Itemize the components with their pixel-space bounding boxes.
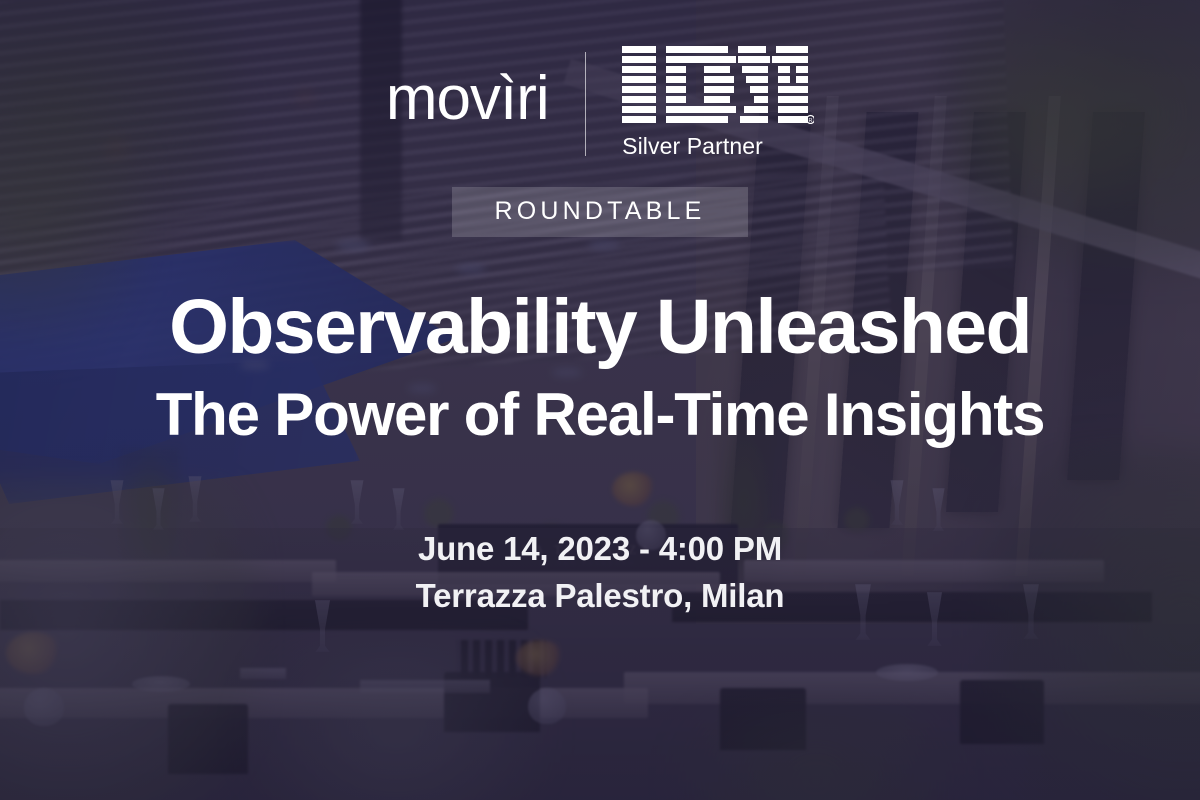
roundtable-badge: ROUNDTABLE: [452, 187, 747, 237]
partner-tier-label: Silver Partner: [622, 133, 763, 160]
moviri-logo: movìri: [386, 46, 585, 130]
svg-text:R: R: [809, 118, 813, 124]
event-details: June 14, 2023 - 4:00 PM Terrazza Palestr…: [416, 526, 785, 620]
event-venue: Terrazza Palestro, Milan: [416, 573, 785, 620]
event-datetime: June 14, 2023 - 4:00 PM: [416, 526, 785, 573]
event-promo-banner: LA TERRAZZA DI SAN PALESTRO: [0, 0, 1200, 800]
ibm-logo-icon: R: [622, 46, 814, 124]
event-title: Observability Unleashed: [169, 289, 1031, 366]
event-subtitle: The Power of Real-Time Insights: [156, 385, 1045, 445]
logo-lockup: movìri: [386, 46, 814, 164]
banner-content: movìri: [0, 0, 1200, 800]
ibm-logo-block: R Silver Partner: [586, 46, 814, 160]
